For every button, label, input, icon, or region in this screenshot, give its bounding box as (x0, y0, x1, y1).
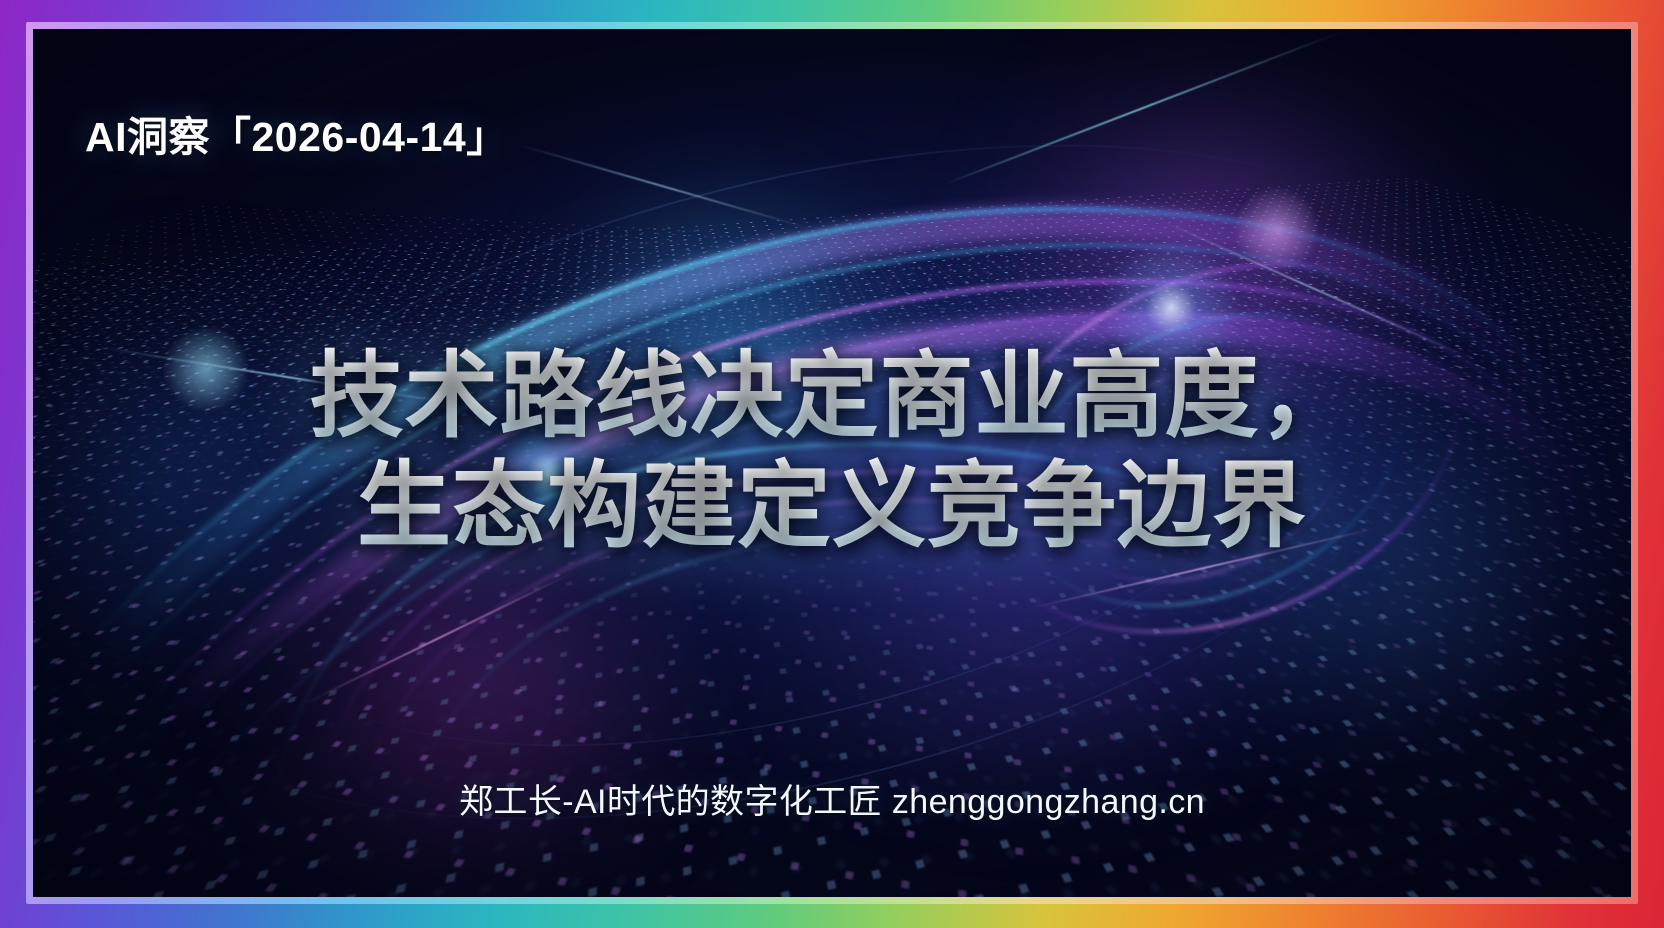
text-content-layer: AI洞察「2026-04-14」 技术路线决定商业高度， 生态构建定义竞争边界 … (33, 29, 1631, 897)
headline-block: 技术路线决定商业高度， 生态构建定义竞争边界 (33, 341, 1631, 561)
headline-line-1: 技术路线决定商业高度， (33, 341, 1631, 451)
kicker-date-label: AI洞察「2026-04-14」 (85, 103, 508, 163)
footer-attribution: 郑工长-AI时代的数字化工匠 zhenggongzhang.cn (33, 774, 1631, 823)
poster-canvas: AI洞察「2026-04-14」 技术路线决定商业高度， 生态构建定义竞争边界 … (0, 0, 1664, 928)
headline-line-2: 生态构建定义竞争边界 (33, 451, 1631, 561)
cosmic-background-stage: AI洞察「2026-04-14」 技术路线决定商业高度， 生态构建定义竞争边界 … (33, 29, 1631, 897)
